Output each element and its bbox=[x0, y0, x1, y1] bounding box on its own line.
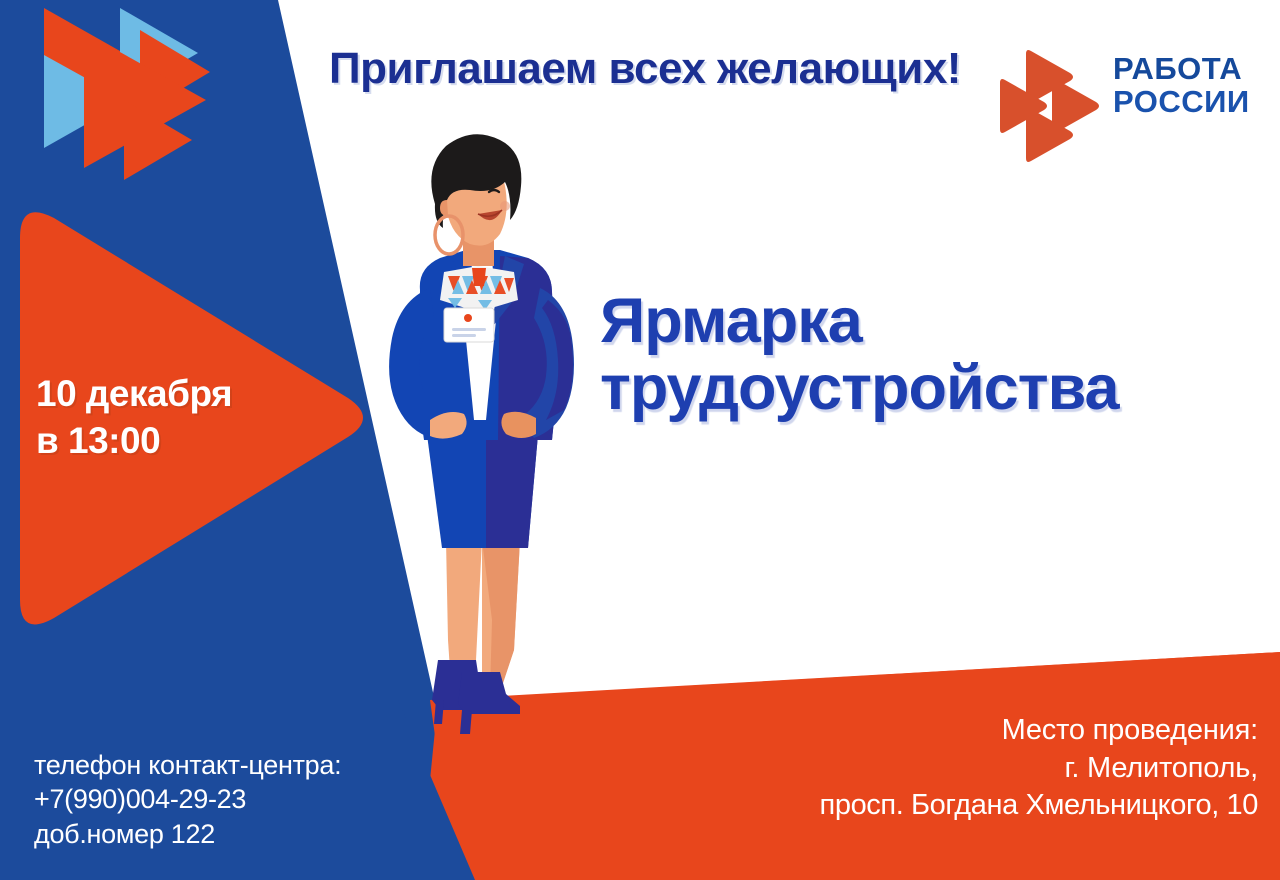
page-headline: Приглашаем всех желающих! bbox=[300, 44, 990, 94]
venue-address: просп. Богдана Хмельницкого, 10 bbox=[438, 787, 1258, 825]
hand-right bbox=[501, 412, 536, 438]
event-date: 10 декабря bbox=[36, 370, 336, 417]
page-title-line-1: Ярмарка bbox=[600, 288, 1272, 355]
venue-city: г. Мелитополь, bbox=[438, 750, 1258, 788]
page-title: Ярмарка трудоустройства bbox=[600, 288, 1272, 423]
venue-info: Место проведения: г. Мелитополь, просп. … bbox=[438, 712, 1258, 825]
contact-info: телефон контакт-центра: +7(990)004-29-23… bbox=[34, 748, 341, 851]
scarf-knot bbox=[472, 268, 486, 286]
venue-label: Место проведения: bbox=[438, 712, 1258, 750]
page-title-line-2: трудоустройства bbox=[600, 355, 1272, 422]
poster-canvas: РАБОТА РОССИИ bbox=[0, 0, 1280, 880]
contact-phone: +7(990)004-29-23 bbox=[34, 782, 341, 816]
contact-label: телефон контакт-центра: bbox=[34, 748, 341, 782]
event-time: в 13:00 bbox=[36, 417, 336, 464]
name-badge-mark bbox=[464, 314, 472, 322]
shoe-right bbox=[458, 672, 520, 714]
cheek bbox=[500, 201, 510, 211]
event-date-badge: 10 декабря в 13:00 bbox=[36, 370, 336, 465]
contact-extension: доб.номер 122 bbox=[34, 817, 341, 851]
